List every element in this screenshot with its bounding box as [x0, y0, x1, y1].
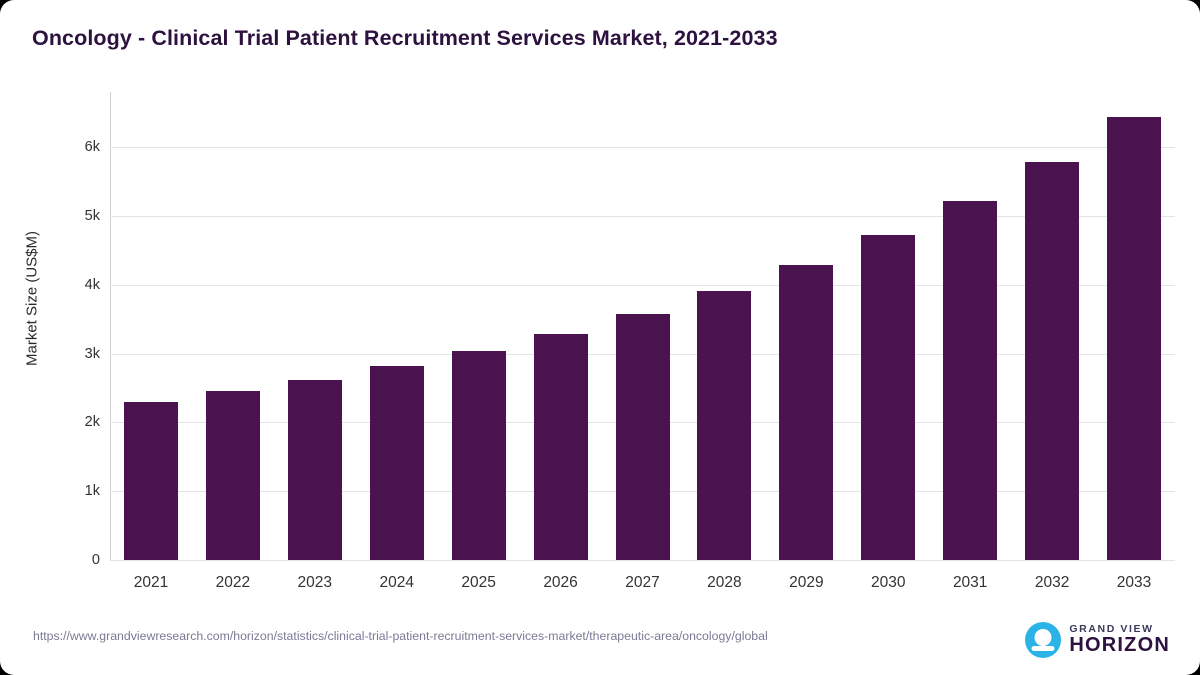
bar[interactable] — [616, 314, 670, 560]
page-title: Oncology - Clinical Trial Patient Recrui… — [32, 26, 778, 51]
y-tick-label: 0 — [92, 552, 100, 568]
gridline — [110, 285, 1175, 286]
bar[interactable] — [697, 291, 751, 560]
bar[interactable] — [124, 402, 178, 560]
brand-logo: GRAND VIEW HORIZON — [1025, 622, 1170, 658]
bar[interactable] — [861, 235, 915, 560]
gridline — [110, 147, 1175, 148]
source-url[interactable]: https://www.grandviewresearch.com/horizo… — [33, 628, 913, 645]
bar[interactable] — [370, 366, 424, 560]
bar[interactable] — [452, 351, 506, 560]
bar[interactable] — [206, 391, 260, 560]
gridline — [110, 216, 1175, 217]
bar[interactable] — [1025, 162, 1079, 560]
y-axis-tick-labels: 01k2k3k4k5k6k — [60, 92, 100, 561]
logo-text: GRAND VIEW HORIZON — [1069, 624, 1170, 656]
bar[interactable] — [779, 265, 833, 560]
gridline — [110, 560, 1175, 561]
y-tick-label: 2k — [85, 414, 100, 430]
logo-bottom-text: HORIZON — [1069, 635, 1170, 656]
bar[interactable] — [1107, 117, 1161, 560]
bar[interactable] — [288, 380, 342, 560]
y-tick-label: 4k — [85, 277, 100, 293]
chart-page: Oncology - Clinical Trial Patient Recrui… — [0, 0, 1200, 675]
plot-area — [110, 92, 1175, 560]
y-tick-label: 5k — [85, 208, 100, 224]
bar[interactable] — [943, 201, 997, 560]
x-tick-label: 2033 — [1084, 574, 1184, 592]
y-axis-title: Market Size (US$M) — [24, 99, 41, 499]
y-tick-label: 3k — [85, 346, 100, 362]
bar[interactable] — [534, 334, 588, 560]
y-tick-label: 1k — [85, 483, 100, 499]
horizon-logo-icon — [1025, 622, 1061, 658]
y-tick-label: 6k — [85, 139, 100, 155]
